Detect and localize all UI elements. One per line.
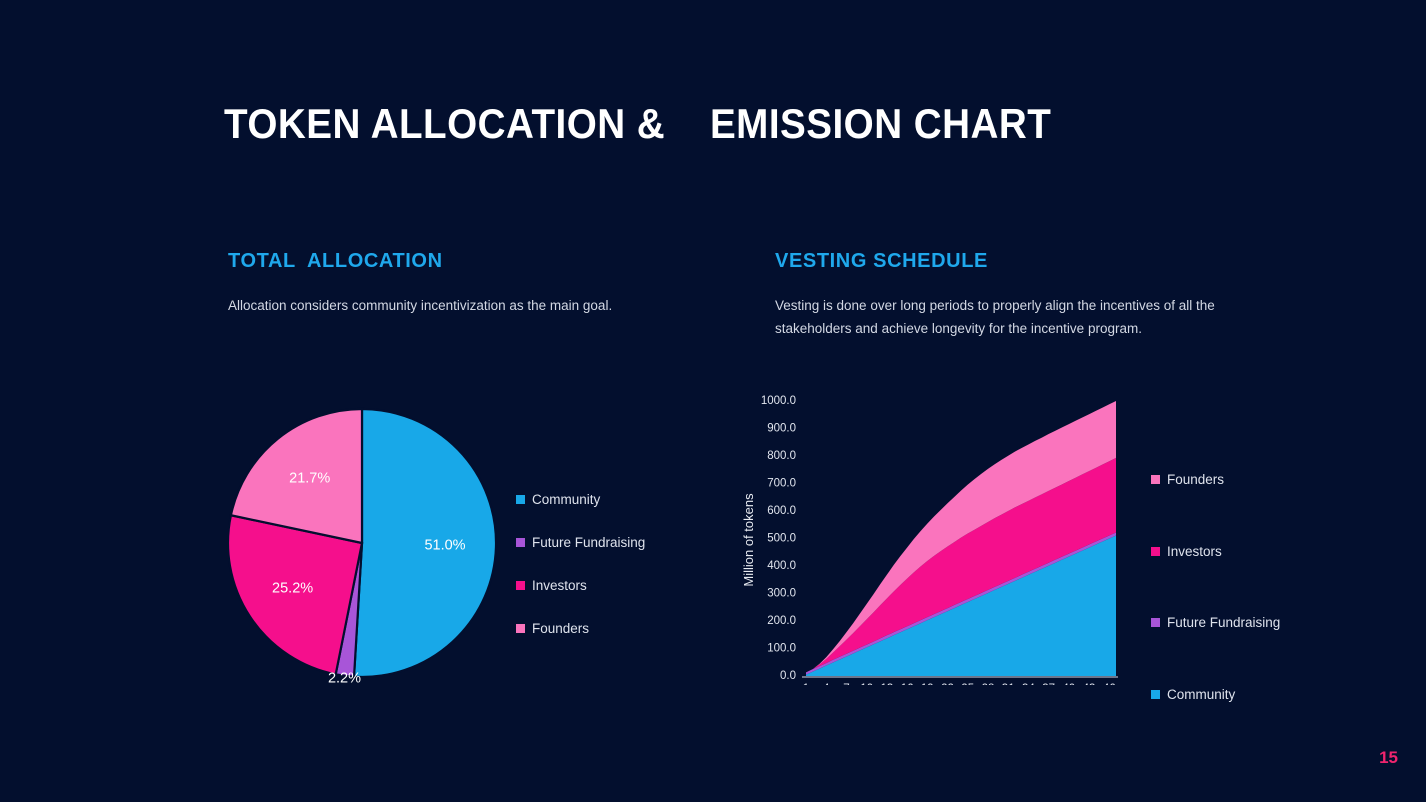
area-chart-x-tick-labels: 14710131619222528313437404346 <box>803 683 1116 685</box>
y-axis-tick-label: 100.0 <box>767 643 796 655</box>
x-axis-tick-label: 1 <box>803 683 809 685</box>
area-legend-label: Future Fundraising <box>1167 615 1280 630</box>
x-axis-tick-label: 40 <box>1062 683 1075 685</box>
area-legend-item[interactable]: Investors <box>1151 516 1280 588</box>
y-axis-tick-label: 200.0 <box>767 615 796 627</box>
legend-color-swatch-icon <box>516 624 525 633</box>
slide-root: TOKEN ALLOCATION & EMISSION CHART TOTAL … <box>0 0 1426 802</box>
x-axis-tick-label: 22 <box>941 683 954 685</box>
pie-slice-data-label: 2.2% <box>328 670 361 686</box>
x-axis-tick-label: 19 <box>921 683 934 685</box>
x-axis-tick-label: 46 <box>1103 683 1116 685</box>
area-chart: 0.0100.0200.0300.0400.0500.0600.0700.080… <box>740 385 1140 685</box>
y-axis-tick-label: 600.0 <box>767 505 796 517</box>
y-axis-tick-label: 0.0 <box>780 670 796 682</box>
pie-legend-item[interactable]: Community <box>516 478 645 521</box>
pie-legend-item[interactable]: Founders <box>516 607 645 650</box>
area-chart-bands <box>806 401 1116 676</box>
area-legend-label: Investors <box>1167 544 1222 559</box>
vesting-schedule-description: Vesting is done over long periods to pro… <box>775 294 1225 340</box>
area-legend-label: Founders <box>1167 472 1224 487</box>
y-axis-tick-label: 700.0 <box>767 478 796 490</box>
pie-chart-legend: CommunityFuture FundraisingInvestorsFoun… <box>516 478 645 650</box>
legend-color-swatch-icon <box>1151 690 1160 699</box>
pie-legend-label: Investors <box>532 578 587 593</box>
x-axis-tick-label: 37 <box>1042 683 1055 685</box>
pie-slice-data-label: 51.0% <box>424 537 465 553</box>
pie-legend-label: Community <box>532 492 600 507</box>
area-legend-label: Community <box>1167 687 1235 702</box>
y-axis-tick-label: 900.0 <box>767 423 796 435</box>
pie-legend-item[interactable]: Future Fundraising <box>516 521 645 564</box>
y-axis-tick-label: 1000.0 <box>761 395 796 407</box>
y-axis-tick-label: 300.0 <box>767 588 796 600</box>
x-axis-tick-label: 43 <box>1083 683 1096 685</box>
vesting-schedule-heading: VESTING SCHEDULE <box>775 250 988 273</box>
y-axis-tick-label: 500.0 <box>767 533 796 545</box>
x-axis-tick-label: 25 <box>961 683 974 685</box>
area-chart-legend: FoundersInvestorsFuture FundraisingCommu… <box>1151 444 1280 730</box>
legend-color-swatch-icon <box>516 581 525 590</box>
area-legend-item[interactable]: Future Fundraising <box>1151 587 1280 659</box>
pie-chart: 51.0%2.2%25.2%21.7% <box>228 398 518 688</box>
total-allocation-heading: TOTAL ALLOCATION <box>228 250 443 273</box>
y-axis-tick-label: 800.0 <box>767 450 796 462</box>
pie-slice-data-label: 25.2% <box>272 581 313 597</box>
legend-color-swatch-icon <box>1151 475 1160 484</box>
total-allocation-description: Allocation considers community incentivi… <box>228 294 638 317</box>
area-chart-y-tick-labels: 0.0100.0200.0300.0400.0500.0600.0700.080… <box>761 395 796 682</box>
legend-color-swatch-icon <box>1151 547 1160 556</box>
x-axis-tick-label: 31 <box>1002 683 1015 685</box>
legend-color-swatch-icon <box>516 538 525 547</box>
area-legend-item[interactable]: Community <box>1151 659 1280 731</box>
pie-chart-svg: 51.0%2.2%25.2%21.7% <box>228 398 518 688</box>
pie-slice-data-label: 21.7% <box>289 470 330 486</box>
area-legend-item[interactable]: Founders <box>1151 444 1280 516</box>
legend-color-swatch-icon <box>516 495 525 504</box>
x-axis-tick-label: 16 <box>901 683 914 685</box>
x-axis-tick-label: 10 <box>860 683 873 685</box>
x-axis-tick-label: 34 <box>1022 683 1035 685</box>
pie-legend-label: Future Fundraising <box>532 535 645 550</box>
pie-legend-label: Founders <box>532 621 589 636</box>
page-title: TOKEN ALLOCATION & EMISSION CHART <box>224 100 1051 148</box>
x-axis-tick-label: 4 <box>823 683 830 685</box>
x-axis-tick-label: 28 <box>982 683 995 685</box>
y-axis-tick-label: 400.0 <box>767 560 796 572</box>
x-axis-tick-label: 7 <box>843 683 849 685</box>
area-chart-svg: 0.0100.0200.0300.0400.0500.0600.0700.080… <box>740 385 1140 685</box>
pie-legend-item[interactable]: Investors <box>516 564 645 607</box>
page-number: 15 <box>1379 748 1398 768</box>
legend-color-swatch-icon <box>1151 618 1160 627</box>
area-chart-y-axis-title: Million of tokens <box>741 493 756 587</box>
x-axis-tick-label: 13 <box>881 683 894 685</box>
